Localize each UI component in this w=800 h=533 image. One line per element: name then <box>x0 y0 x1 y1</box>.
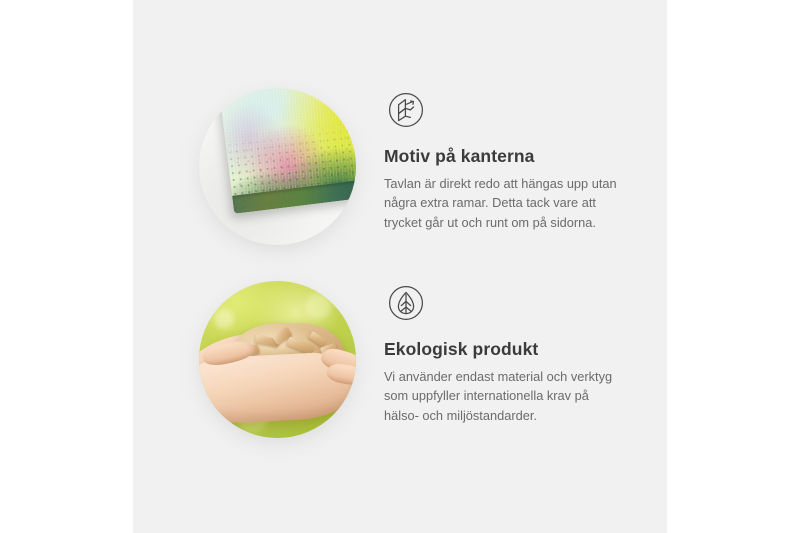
hands-holding-wood-chips-photo <box>199 281 356 438</box>
canvas-print-corner-photo <box>199 88 356 245</box>
content-panel: Motiv på kanterna Tavlan är direkt redo … <box>133 0 667 533</box>
infographic-stage: Motiv på kanterna Tavlan är direkt redo … <box>0 0 800 533</box>
feature-1-title: Motiv på kanterna <box>384 146 634 167</box>
feature-2-description: Vi använder endast material och verktyg … <box>384 367 620 425</box>
feature-2-text: Ekologisk produkt Vi använder endast mat… <box>384 281 634 425</box>
leaf-icon <box>384 281 428 325</box>
feature-1-thumbnail <box>199 88 356 245</box>
feature-2-thumbnail <box>199 281 356 438</box>
feature-2-title: Ekologisk produkt <box>384 339 634 360</box>
canvas-corner-object <box>219 88 356 214</box>
feature-1-text: Motiv på kanterna Tavlan är direkt redo … <box>384 88 634 232</box>
feature-1-description: Tavlan är direkt redo att hängas upp uta… <box>384 174 620 232</box>
canvas-wrapped-edges-icon <box>384 88 428 132</box>
